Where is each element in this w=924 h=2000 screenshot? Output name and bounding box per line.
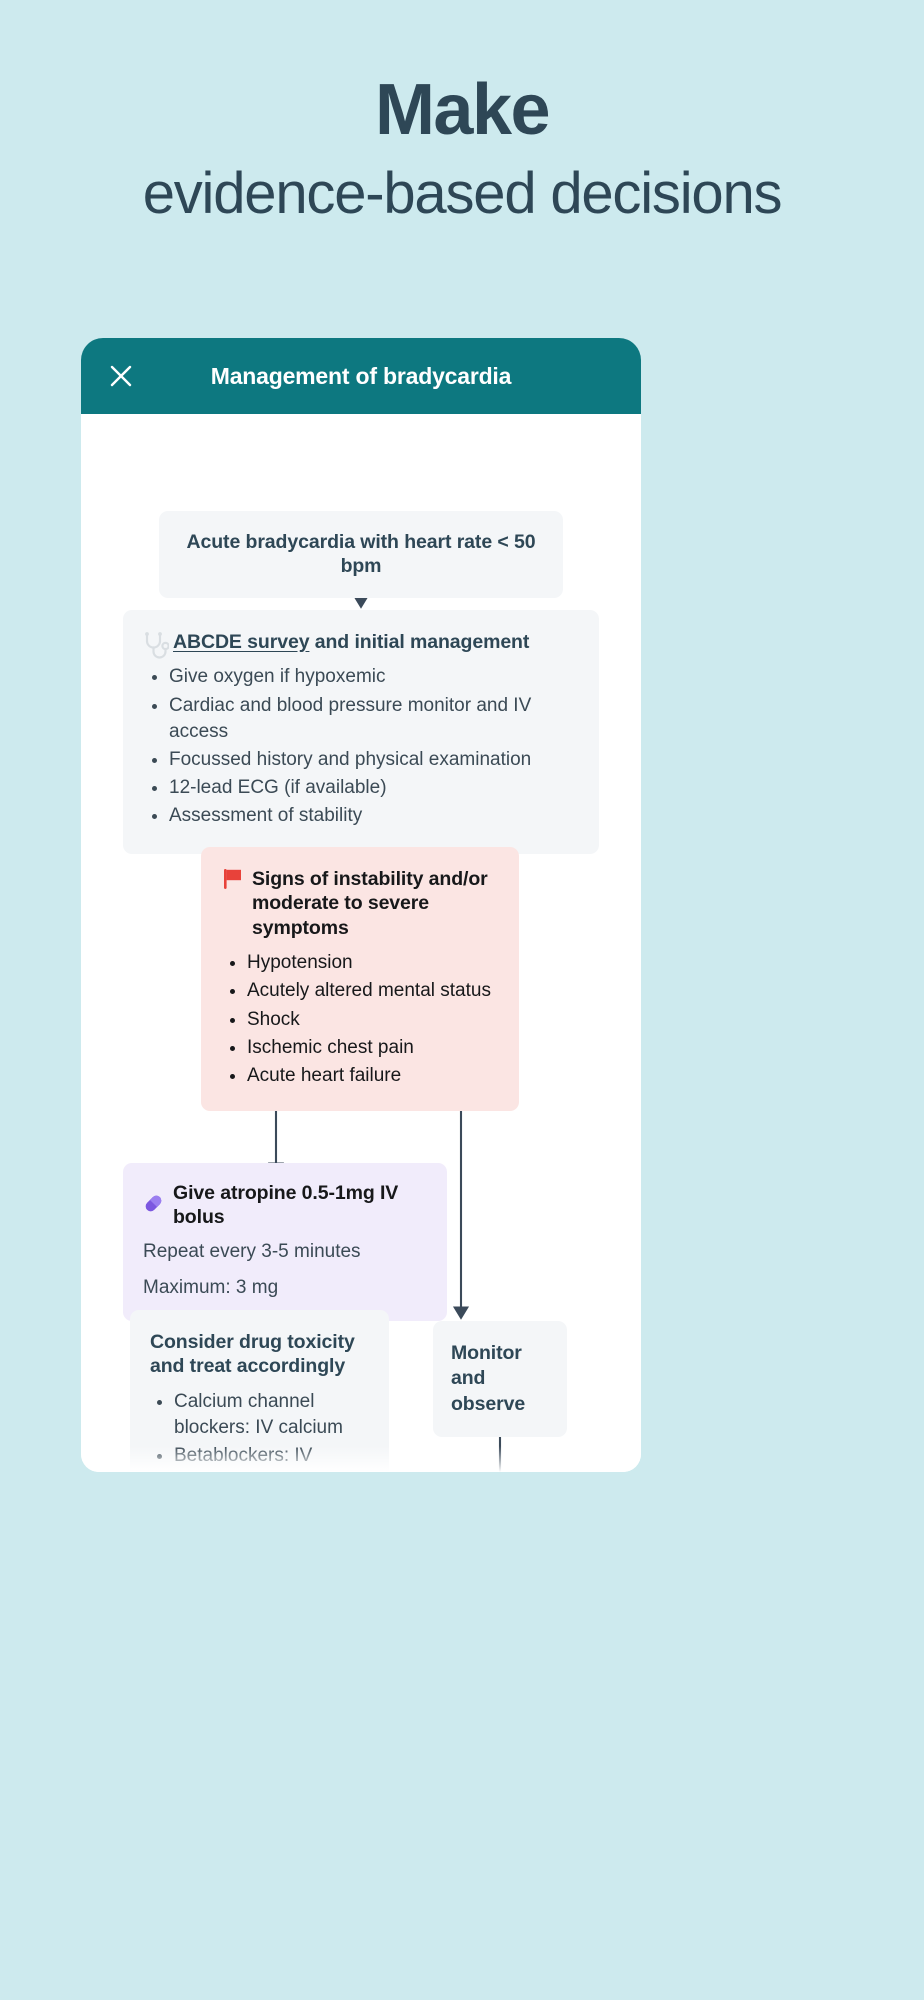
- hero-title-line-2: evidence-based decisions: [0, 158, 924, 231]
- flow-node-acute-bradycardia[interactable]: Acute bradycardia with heart rate < 50 b…: [159, 511, 563, 598]
- stethoscope-icon: [143, 632, 169, 667]
- flow-node-monitor-and-observe[interactable]: Monitor and observe: [433, 1321, 567, 1437]
- list-item: Give oxygen if hypoxemic: [145, 664, 577, 690]
- node-title-rest: and initial management: [309, 631, 529, 653]
- node-title: ABCDE survey and initial management: [145, 630, 577, 654]
- bradycardia-flowchart-card: Management of bradycardia: [81, 338, 641, 1472]
- list-item: Assessment of stability: [145, 803, 577, 829]
- flow-node-give-atropine[interactable]: Give atropine 0.5-1mg IV bolus Repeat ev…: [123, 1163, 447, 1321]
- close-icon[interactable]: [103, 358, 139, 394]
- list-item: Acutely altered mental status: [223, 978, 497, 1004]
- node-bullet-list: Give oxygen if hypoxemic Cardiac and blo…: [145, 664, 577, 829]
- list-item: 12-lead ECG (if available): [145, 775, 577, 801]
- list-item: Shock: [223, 1007, 497, 1033]
- flow-node-signs-of-instability[interactable]: Signs of instability and/or moderate to …: [201, 847, 519, 1111]
- node-bullet-list: Hypotension Acutely altered mental statu…: [223, 950, 497, 1089]
- card-title: Management of bradycardia: [81, 363, 641, 390]
- node-title: Give atropine 0.5-1mg IV bolus: [173, 1181, 427, 1230]
- list-item: Focussed history and physical examinatio…: [145, 747, 577, 773]
- flow-node-abcde-survey[interactable]: ABCDE survey and initial management Give…: [123, 610, 599, 854]
- list-item: Acute heart failure: [223, 1063, 497, 1089]
- list-item: Cardiac and blood pressure monitor and I…: [145, 693, 577, 745]
- hero-heading: Make evidence-based decisions: [0, 0, 924, 231]
- red-flag-icon: [223, 868, 243, 895]
- card-bottom-fade: [81, 1446, 641, 1472]
- node-title: Signs of instability and/or moderate to …: [252, 867, 497, 940]
- list-item: Calcium channel blockers: IV calcium: [150, 1389, 369, 1441]
- hero-title-line-1: Make: [0, 74, 924, 146]
- node-title: Acute bradycardia with heart rate < 50 b…: [181, 530, 541, 579]
- pill-icon: [143, 1193, 164, 1219]
- node-title-underlined: ABCDE survey: [173, 631, 309, 653]
- flowchart-body: Yes No Acute bradycardia with heart rate…: [81, 414, 641, 1472]
- node-detail-line-1: Repeat every 3-5 minutes: [143, 1239, 427, 1266]
- list-item: Hypotension: [223, 950, 497, 976]
- node-title: Consider drug toxicity and treat accordi…: [150, 1330, 369, 1379]
- node-title: Monitor and observe: [451, 1341, 549, 1417]
- card-header: Management of bradycardia: [81, 338, 641, 414]
- node-detail-line-2: Maximum: 3 mg: [143, 1275, 427, 1302]
- list-item: Ischemic chest pain: [223, 1035, 497, 1061]
